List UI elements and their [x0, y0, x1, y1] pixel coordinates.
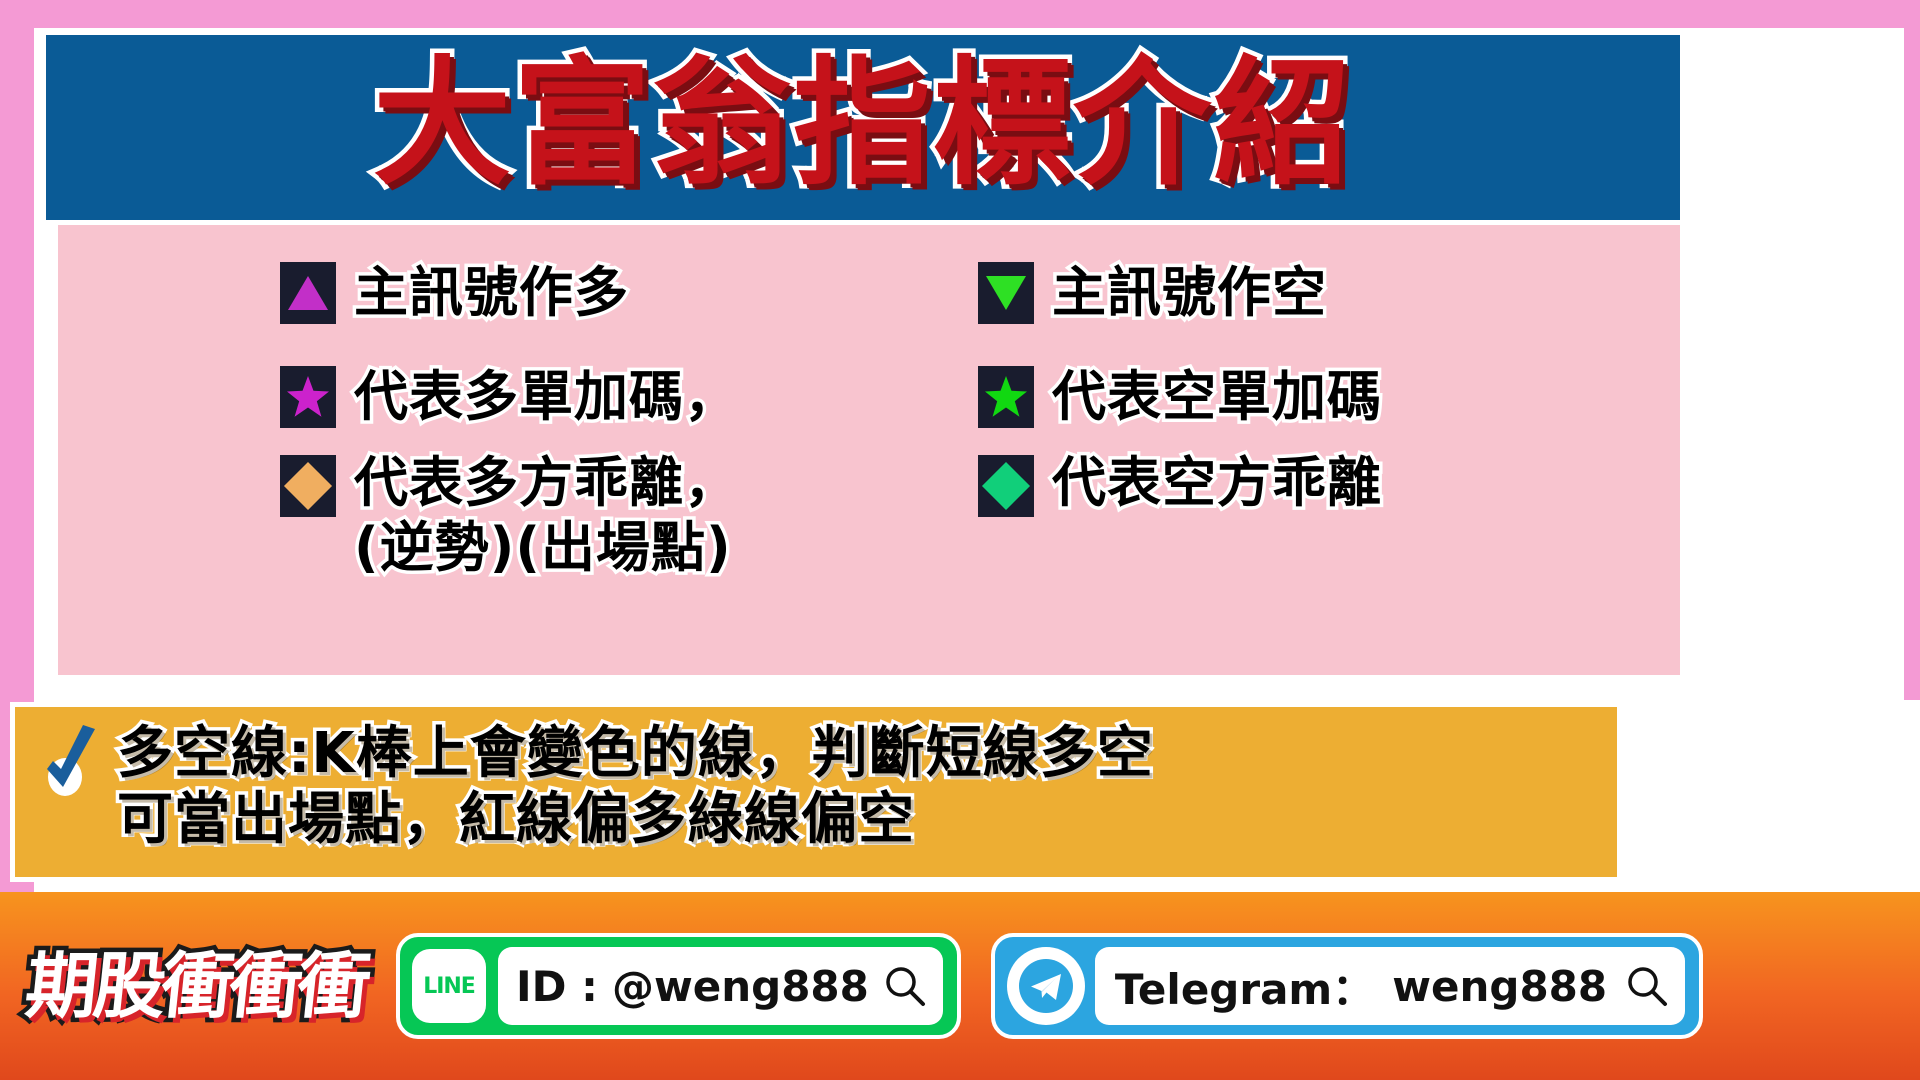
legend-item-main-signal-long: 主訊號作多: [280, 241, 878, 345]
legend-item-sublabel: (逆勢)(出場點): [354, 520, 739, 577]
icon-tile: [280, 262, 336, 324]
line-logo-icon: LINE: [412, 949, 486, 1023]
legend-columns: 主訊號作多 代表多單加碼， 代表多方乖離，: [58, 241, 1680, 675]
telegram-label: Telegram：: [1115, 956, 1374, 1017]
line-contact-pill[interactable]: LINE ID : @weng888: [396, 933, 961, 1039]
legend-item-label: 主訊號作多: [354, 265, 629, 322]
line-logo-text: LINE: [423, 974, 475, 999]
legend-column-long: 主訊號作多 代表多單加碼， 代表多方乖離，: [58, 241, 878, 675]
decorative-pink-border-right: [1904, 0, 1920, 700]
icon-tile: [280, 455, 336, 517]
triangle-up-icon: [288, 276, 328, 310]
telegram-paper-plane-icon: [1007, 947, 1085, 1025]
magnifier-icon[interactable]: [1625, 964, 1669, 1008]
legend-column-short: 主訊號作空 代表空單加碼 代表空方乖離: [878, 241, 1680, 675]
telegram-glyph: [1018, 958, 1074, 1014]
icon-tile: [280, 366, 336, 428]
legend-item-label: 主訊號作空: [1052, 265, 1327, 322]
star-icon: [287, 376, 329, 418]
divider-white: [34, 675, 1680, 705]
legend-item-label: 代表多方乖離，: [354, 455, 739, 512]
line-id-field[interactable]: ID : @weng888: [498, 947, 943, 1025]
legend-panel: 主訊號作多 代表多單加碼， 代表多方乖離，: [58, 225, 1680, 675]
header-banner-wrapper: 大富翁指標介紹: [34, 28, 1680, 220]
legend-text-block: 代表空方乖離: [1052, 455, 1382, 512]
legend-item-add-long: 代表多單加碼，: [280, 345, 878, 449]
legend-item-label: 代表空方乖離: [1052, 455, 1382, 512]
note-lines: 多空線:K棒上會變色的線，判斷短線多空 可當出場點，紅線偏多綠線偏空: [117, 721, 1154, 852]
legend-item-label: 代表空單加碼: [1052, 369, 1382, 426]
check-mark-icon: [39, 725, 103, 797]
footer-contact-bar: 期股衝衝衝 LINE ID : @weng888: [0, 892, 1920, 1080]
icon-tile: [978, 262, 1034, 324]
telegram-contact-pill[interactable]: Telegram： weng888: [991, 933, 1703, 1039]
legend-item-long-divergence: 代表多方乖離， (逆勢)(出場點): [280, 449, 878, 553]
diamond-icon: [982, 462, 1030, 510]
triangle-down-icon: [986, 276, 1026, 310]
legend-item-label: 代表多單加碼，: [354, 369, 739, 426]
legend-text-block: 主訊號作空: [1052, 265, 1327, 322]
line-id-label: ID :: [516, 962, 598, 1011]
note-box: 多空線:K棒上會變色的線，判斷短線多空 可當出場點，紅線偏多綠線偏空: [10, 702, 1622, 882]
star-icon: [985, 376, 1027, 418]
icon-tile: [978, 455, 1034, 517]
decorative-pink-border-top: [0, 0, 1920, 28]
legend-item-main-signal-short: 主訊號作空: [978, 241, 1680, 345]
page-title: 大富翁指標介紹: [373, 55, 1353, 193]
telegram-id-field[interactable]: Telegram： weng888: [1095, 947, 1685, 1025]
header-banner: 大富翁指標介紹: [46, 35, 1680, 220]
legend-text-block: 主訊號作多: [354, 265, 629, 322]
poster-root: 大富翁指標介紹 主訊號作多: [0, 0, 1920, 1080]
legend-item-add-short: 代表空單加碼: [978, 345, 1680, 449]
magnifier-icon[interactable]: [883, 964, 927, 1008]
diamond-icon: [284, 462, 332, 510]
note-inner: 多空線:K棒上會變色的線，判斷短線多空 可當出場點，紅線偏多綠線偏空: [39, 721, 1617, 852]
brand-logo: 期股衝衝衝: [22, 950, 370, 1022]
icon-tile: [978, 366, 1034, 428]
legend-text-block: 代表多方乖離， (逆勢)(出場點): [354, 455, 739, 576]
legend-text-block: 代表空單加碼: [1052, 369, 1382, 426]
note-line-1: 多空線:K棒上會變色的線，判斷短線多空: [117, 721, 1154, 787]
note-line-2: 可當出場點，紅線偏多綠線偏空: [117, 787, 1154, 853]
legend-item-short-divergence: 代表空方乖離: [978, 449, 1680, 553]
line-id-value: @weng888: [612, 962, 869, 1011]
telegram-value: weng888: [1392, 962, 1607, 1011]
legend-text-block: 代表多單加碼，: [354, 369, 739, 426]
